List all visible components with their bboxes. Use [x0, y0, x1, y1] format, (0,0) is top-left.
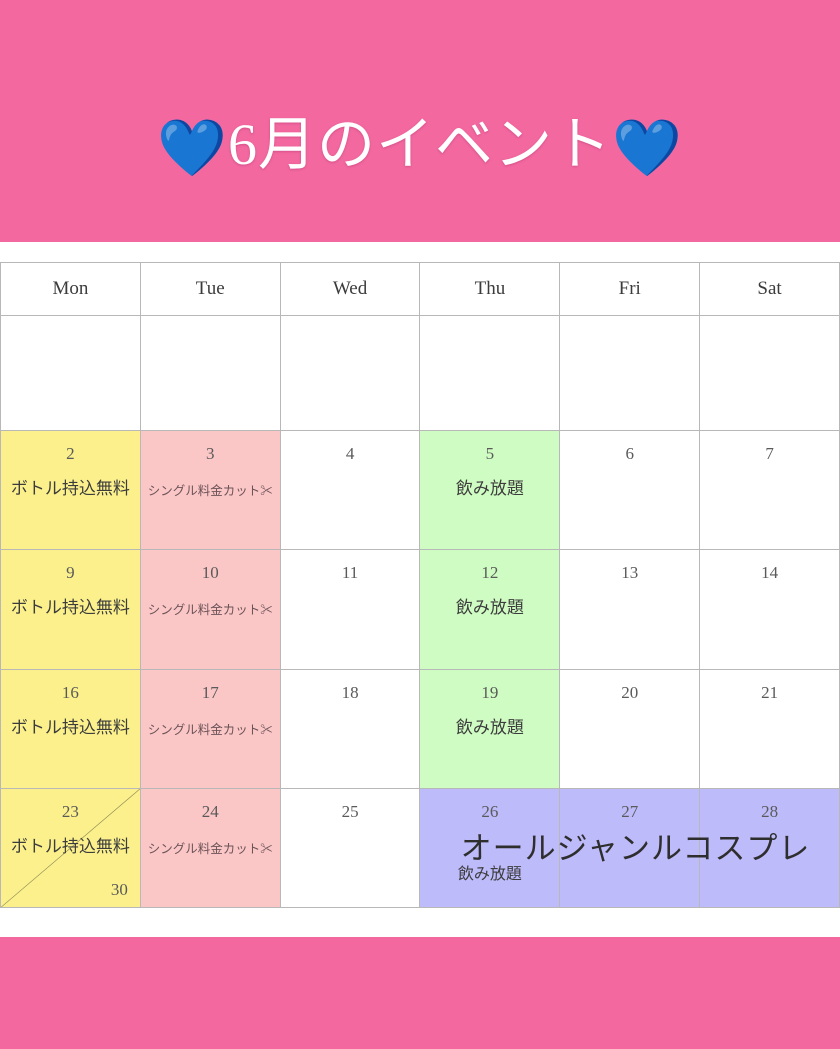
day-event-label: シングル料金カット✂ — [141, 483, 280, 499]
day-number-secondary: 30 — [111, 881, 128, 899]
weekday-header-mon: Mon — [1, 263, 141, 316]
day-number: 5 — [420, 445, 559, 463]
calendar-table: Mon Tue Wed Thu Fri Sat 2ボトル持込無料3シングル料金カ… — [0, 262, 840, 908]
calendar-day-cell[interactable] — [700, 316, 840, 431]
day-number: 3 — [141, 445, 280, 463]
calendar-day-cell[interactable]: 14 — [700, 550, 840, 669]
calendar-day-cell[interactable]: 13 — [560, 550, 700, 669]
day-number: 10 — [141, 564, 280, 582]
calendar-day-cell[interactable]: 28 — [700, 788, 840, 907]
page-title: 💙6月のイベント💙 — [0, 113, 840, 181]
footer-banner — [0, 937, 840, 1049]
calendar-day-cell[interactable]: 6 — [560, 431, 700, 550]
day-event-label: シングル料金カット✂ — [141, 841, 280, 857]
calendar-week-row: 2330ボトル持込無料24シングル料金カット✂2526飲み放題2728 — [1, 788, 840, 907]
header-banner: 💙6月のイベント💙 — [0, 0, 840, 242]
day-number: 7 — [700, 445, 839, 463]
calendar-day-cell[interactable]: 16ボトル持込無料 — [1, 669, 141, 788]
weekday-header-wed: Wed — [280, 263, 420, 316]
day-event-label: 飲み放題 — [420, 479, 559, 499]
calendar-day-cell[interactable]: 24シングル料金カット✂ — [140, 788, 280, 907]
calendar-day-cell[interactable] — [420, 316, 560, 431]
day-number: 2 — [1, 445, 140, 463]
day-event-label: 飲み放題 — [420, 598, 559, 618]
calendar-day-cell[interactable]: 2330ボトル持込無料 — [1, 788, 141, 907]
weekday-header-fri: Fri — [560, 263, 700, 316]
calendar-day-cell[interactable]: 7 — [700, 431, 840, 550]
calendar-day-cell[interactable]: 5飲み放題 — [420, 431, 560, 550]
day-number: 20 — [560, 684, 699, 702]
banner-divider — [0, 242, 840, 262]
day-number: 6 — [560, 445, 699, 463]
calendar-day-cell[interactable]: 20 — [560, 669, 700, 788]
day-number: 18 — [281, 684, 420, 702]
calendar-day-cell[interactable]: 19飲み放題 — [420, 669, 560, 788]
weekday-header-tue: Tue — [140, 263, 280, 316]
day-number: 14 — [700, 564, 839, 582]
page-title-text: 6月のイベント — [228, 112, 612, 177]
day-number: 26 — [420, 803, 559, 821]
calendar-day-cell[interactable]: 18 — [280, 669, 420, 788]
day-number: 23 — [1, 803, 140, 821]
day-number: 24 — [141, 803, 280, 821]
day-number: 16 — [1, 684, 140, 702]
blue-heart-icon-left: 💙 — [157, 118, 228, 180]
day-event-label: 飲み放題 — [420, 865, 559, 885]
day-event-label: 飲み放題 — [420, 718, 559, 738]
day-number: 17 — [141, 684, 280, 702]
calendar-day-cell[interactable] — [560, 316, 700, 431]
day-number: 21 — [700, 684, 839, 702]
calendar-day-cell[interactable]: 11 — [280, 550, 420, 669]
blue-heart-icon-right: 💙 — [612, 118, 683, 180]
day-event-label: シングル料金カット✂ — [141, 722, 280, 738]
weekday-header-sat: Sat — [700, 263, 840, 316]
day-number: 28 — [700, 803, 839, 821]
calendar-day-cell[interactable] — [1, 316, 141, 431]
day-number: 25 — [281, 803, 420, 821]
calendar-day-cell[interactable]: 25 — [280, 788, 420, 907]
calendar-page: 💙6月のイベント💙 Mon Tue Wed Thu Fri Sat — [0, 0, 840, 1049]
day-number: 9 — [1, 564, 140, 582]
footer-divider — [0, 908, 840, 937]
calendar-day-cell[interactable]: 10シングル料金カット✂ — [140, 550, 280, 669]
day-event-label: ボトル持込無料 — [1, 837, 140, 857]
day-event-label: ボトル持込無料 — [1, 718, 140, 738]
calendar-day-cell[interactable]: 21 — [700, 669, 840, 788]
day-event-label: ボトル持込無料 — [1, 598, 140, 618]
day-number: 19 — [420, 684, 559, 702]
calendar-day-cell[interactable]: 12飲み放題 — [420, 550, 560, 669]
calendar-day-cell[interactable]: 26飲み放題 — [420, 788, 560, 907]
calendar-day-cell[interactable]: 17シングル料金カット✂ — [140, 669, 280, 788]
calendar-day-cell[interactable] — [140, 316, 280, 431]
calendar-day-cell[interactable] — [280, 316, 420, 431]
calendar-week-row-blank — [1, 316, 840, 431]
calendar-day-cell[interactable]: 2ボトル持込無料 — [1, 431, 141, 550]
day-number: 4 — [281, 445, 420, 463]
calendar-week-row: 9ボトル持込無料10シングル料金カット✂1112飲み放題1314 — [1, 550, 840, 669]
calendar-week-row: 16ボトル持込無料17シングル料金カット✂1819飲み放題2021 — [1, 669, 840, 788]
calendar-header-row: Mon Tue Wed Thu Fri Sat — [1, 263, 840, 316]
calendar-day-cell[interactable]: 3シングル料金カット✂ — [140, 431, 280, 550]
day-event-label: ボトル持込無料 — [1, 479, 140, 499]
weekday-header-thu: Thu — [420, 263, 560, 316]
calendar-week-row: 2ボトル持込無料3シングル料金カット✂45飲み放題67 — [1, 431, 840, 550]
day-number: 11 — [281, 564, 420, 582]
day-number: 12 — [420, 564, 559, 582]
calendar-day-cell[interactable]: 27 — [560, 788, 700, 907]
day-number: 13 — [560, 564, 699, 582]
calendar-day-cell[interactable]: 4 — [280, 431, 420, 550]
day-number: 27 — [560, 803, 699, 821]
calendar-day-cell[interactable]: 9ボトル持込無料 — [1, 550, 141, 669]
day-event-label: シングル料金カット✂ — [141, 602, 280, 618]
